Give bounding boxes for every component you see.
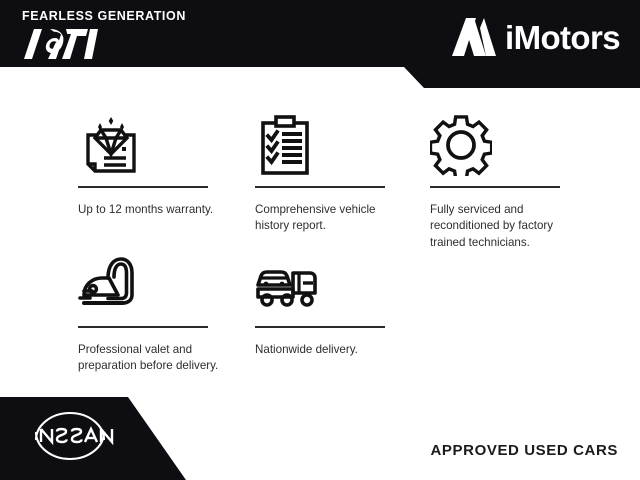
- warranty-certificate-diamond-icon: [78, 112, 238, 178]
- feature-item-serviced: Fully serviced and reconditioned by fact…: [430, 112, 590, 251]
- imotors-logo[interactable]: iMotors: [450, 16, 620, 58]
- feature-text: Up to 12 months warranty.: [78, 202, 230, 218]
- vacuum-cleaner-icon: [78, 252, 238, 318]
- feature-item-history-report: Comprehensive vehicle history report.: [255, 112, 415, 235]
- gear-cog-icon: [430, 112, 590, 178]
- feature-divider: [430, 186, 560, 188]
- footer-bar: NISSAN APPROVED USED CARS: [0, 390, 640, 480]
- feature-divider: [78, 186, 208, 188]
- imotors-chevron-icon: [450, 16, 496, 58]
- clipboard-checklist-icon: [255, 112, 415, 178]
- 1971-stylized-icon: [22, 27, 100, 61]
- approved-used-cars-label: APPROVED USED CARS: [431, 442, 619, 459]
- feature-divider: [78, 326, 208, 328]
- imotors-wordmark: iMotors: [505, 21, 620, 54]
- nissan-logo-icon[interactable]: NISSAN: [26, 402, 114, 468]
- feature-text: Fully serviced and reconditioned by fact…: [430, 202, 582, 251]
- header-tagline: FEARLESS GENERATION: [22, 10, 262, 23]
- feature-divider: [255, 326, 385, 328]
- advert-banner: FEARLESS GENERATION: [0, 0, 640, 480]
- feature-text: Nationwide delivery.: [255, 342, 407, 358]
- nissan-wordmark: NISSAN: [70, 442, 71, 443]
- feature-item-warranty: Up to 12 months warranty.: [78, 112, 238, 218]
- feature-text: Professional valet and preparation befor…: [78, 342, 230, 375]
- car-transporter-truck-icon: [255, 252, 415, 318]
- feature-item-delivery: Nationwide delivery.: [255, 252, 415, 358]
- year-1971-logo: [22, 27, 100, 61]
- feature-item-valet: Professional valet and preparation befor…: [78, 252, 238, 375]
- feature-divider: [255, 186, 385, 188]
- header-bar: FEARLESS GENERATION: [0, 0, 640, 90]
- feature-text: Comprehensive vehicle history report.: [255, 202, 407, 235]
- fearless-generation-brand: FEARLESS GENERATION: [22, 10, 262, 61]
